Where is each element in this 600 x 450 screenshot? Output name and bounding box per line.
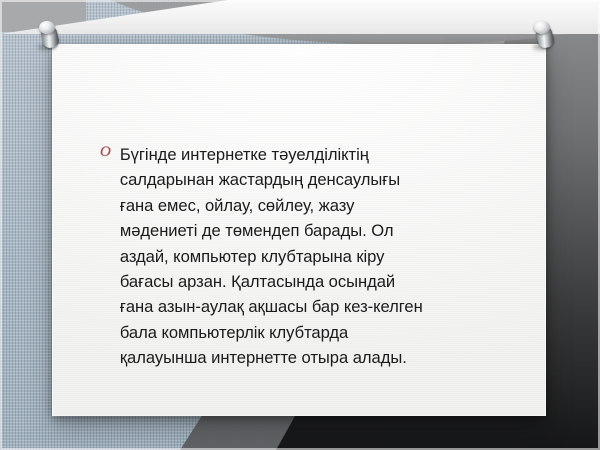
paper-card: O Бүгінде интернетке тәуелділіктің салда… (52, 44, 546, 416)
slide-body-text: Бүгінде интернетке тәуелділіктің салдары… (120, 142, 516, 371)
bullet-marker-icon: O (100, 145, 111, 161)
bullet-paragraph-block: O Бүгінде интернетке тәуелділіктің салда… (100, 142, 516, 371)
presentation-slide: O Бүгінде интернетке тәуелділіктің салда… (0, 0, 600, 450)
